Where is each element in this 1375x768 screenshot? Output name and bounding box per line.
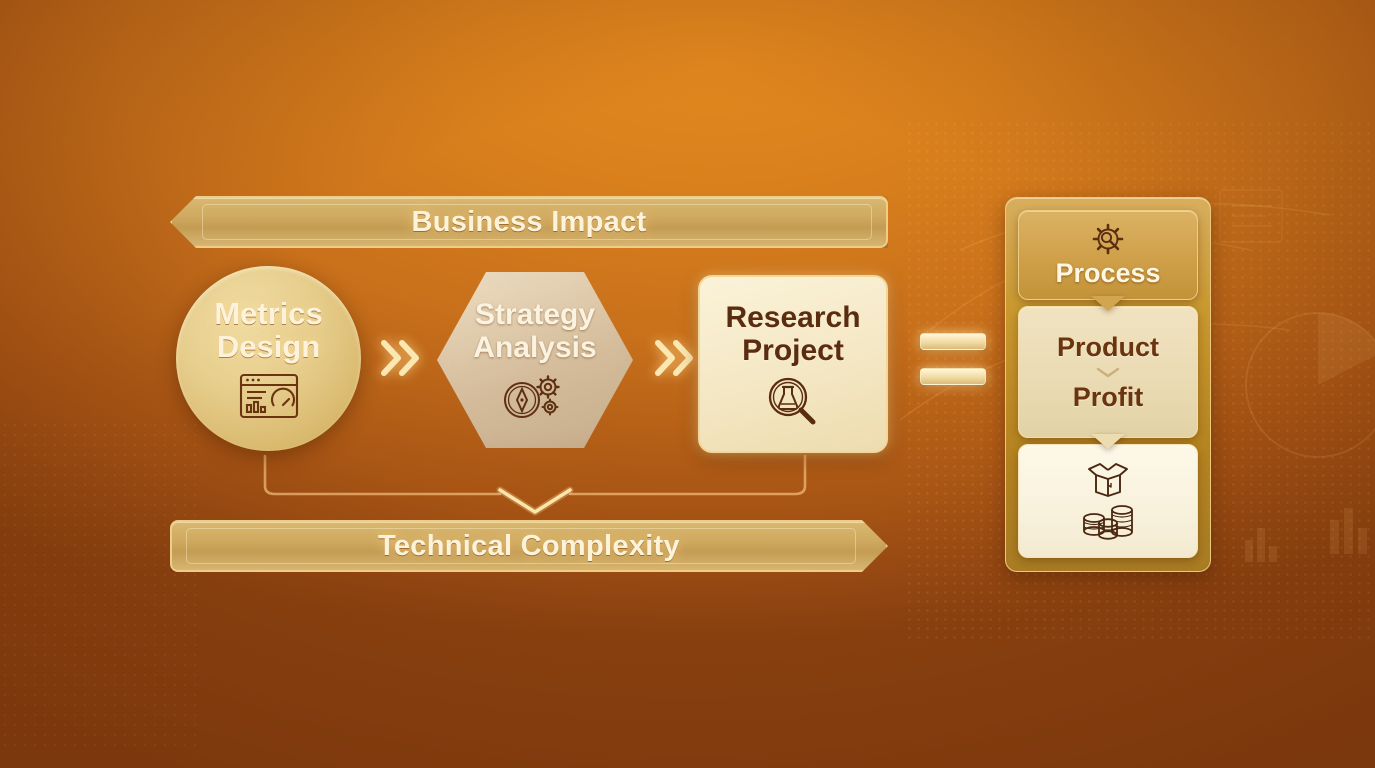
dot-grid-pattern-left [0,420,200,750]
result-label-profit: Profit [1073,383,1144,411]
chevron-down-icon [1095,366,1121,379]
metrics-design-title-line1: Metrics [214,297,323,330]
arrow-down-product-to-assets [1091,434,1125,449]
technical-complexity-banner: Technical Complexity [170,520,888,572]
equals-sign-icon [920,333,986,385]
metrics-design-title-line2: Design [214,330,323,363]
gear-magnifier-icon [1089,223,1127,257]
compass-gears-icon [500,373,570,421]
double-chevron-right-icon [652,334,698,382]
metrics-design-title: Metrics Design [214,297,323,364]
flow-node-metrics-design[interactable]: Metrics Design [176,266,361,451]
strategy-analysis-title: Strategy Analysis [473,299,596,364]
flow-node-strategy-analysis[interactable]: Strategy Analysis [437,272,633,448]
equals-bar-bottom [920,368,986,385]
result-label-process: Process [1055,259,1160,287]
research-project-title-line1: Research [725,302,860,334]
result-card-process[interactable]: Process [1018,210,1198,300]
result-card-assets[interactable] [1018,444,1198,558]
strategy-analysis-title-line1: Strategy [473,299,596,331]
connector-chevron-1 [378,334,424,382]
business-impact-label: Business Impact [412,206,647,239]
open-box-icon [1085,461,1131,499]
result-card-product-profit[interactable]: Product Profit [1018,306,1198,438]
double-chevron-right-icon [378,334,424,382]
dashboard-analytics-icon [238,372,300,420]
strategy-analysis-title-line2: Analysis [473,332,596,364]
connector-chevron-2 [652,334,698,382]
business-impact-banner: Business Impact [170,196,888,248]
equals-bar-top [920,333,986,350]
magnifier-flask-icon [765,376,821,426]
result-label-product: Product [1057,333,1159,361]
results-panel: Process Product Profit [1005,197,1211,572]
technical-complexity-label: Technical Complexity [378,530,680,563]
diagram-canvas: Business Impact Metrics Design [0,0,1375,768]
flow-node-research-project[interactable]: Research Project [698,275,888,453]
coin-stacks-icon [1080,501,1136,541]
arrow-down-process-to-product [1091,296,1125,311]
research-project-title-line2: Project [725,335,860,367]
flow-to-complexity-connector [255,450,815,530]
research-project-title: Research Project [725,302,860,367]
